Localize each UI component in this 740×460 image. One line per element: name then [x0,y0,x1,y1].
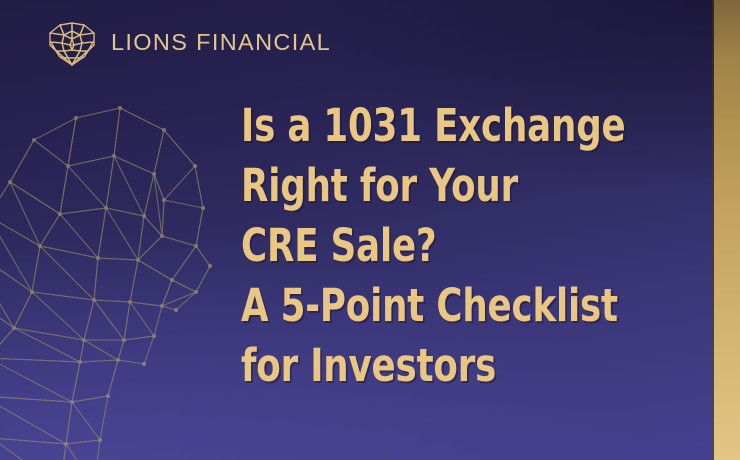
headline-line-4: A 5-Point Checklist [241,276,639,336]
headline-line-3: CRE Sale? [241,216,639,276]
accent-stripe [714,0,740,460]
low-poly-lion-watermark [0,96,248,460]
headline-line-1: Is a 1031 Exchange [241,96,639,156]
brand-name: LIONS FINANCIAL [111,31,331,55]
brand-lockup[interactable]: LIONS FINANCIAL [46,17,331,69]
lion-shield-icon [46,17,98,69]
headline-line-2: Right for Your [241,156,639,216]
headline: Is a 1031 Exchange Right for Your CRE Sa… [241,96,693,396]
headline-line-5: for Investors [241,336,639,396]
social-card: LIONS FINANCIAL Is a 1031 Exchange Right… [0,0,740,460]
